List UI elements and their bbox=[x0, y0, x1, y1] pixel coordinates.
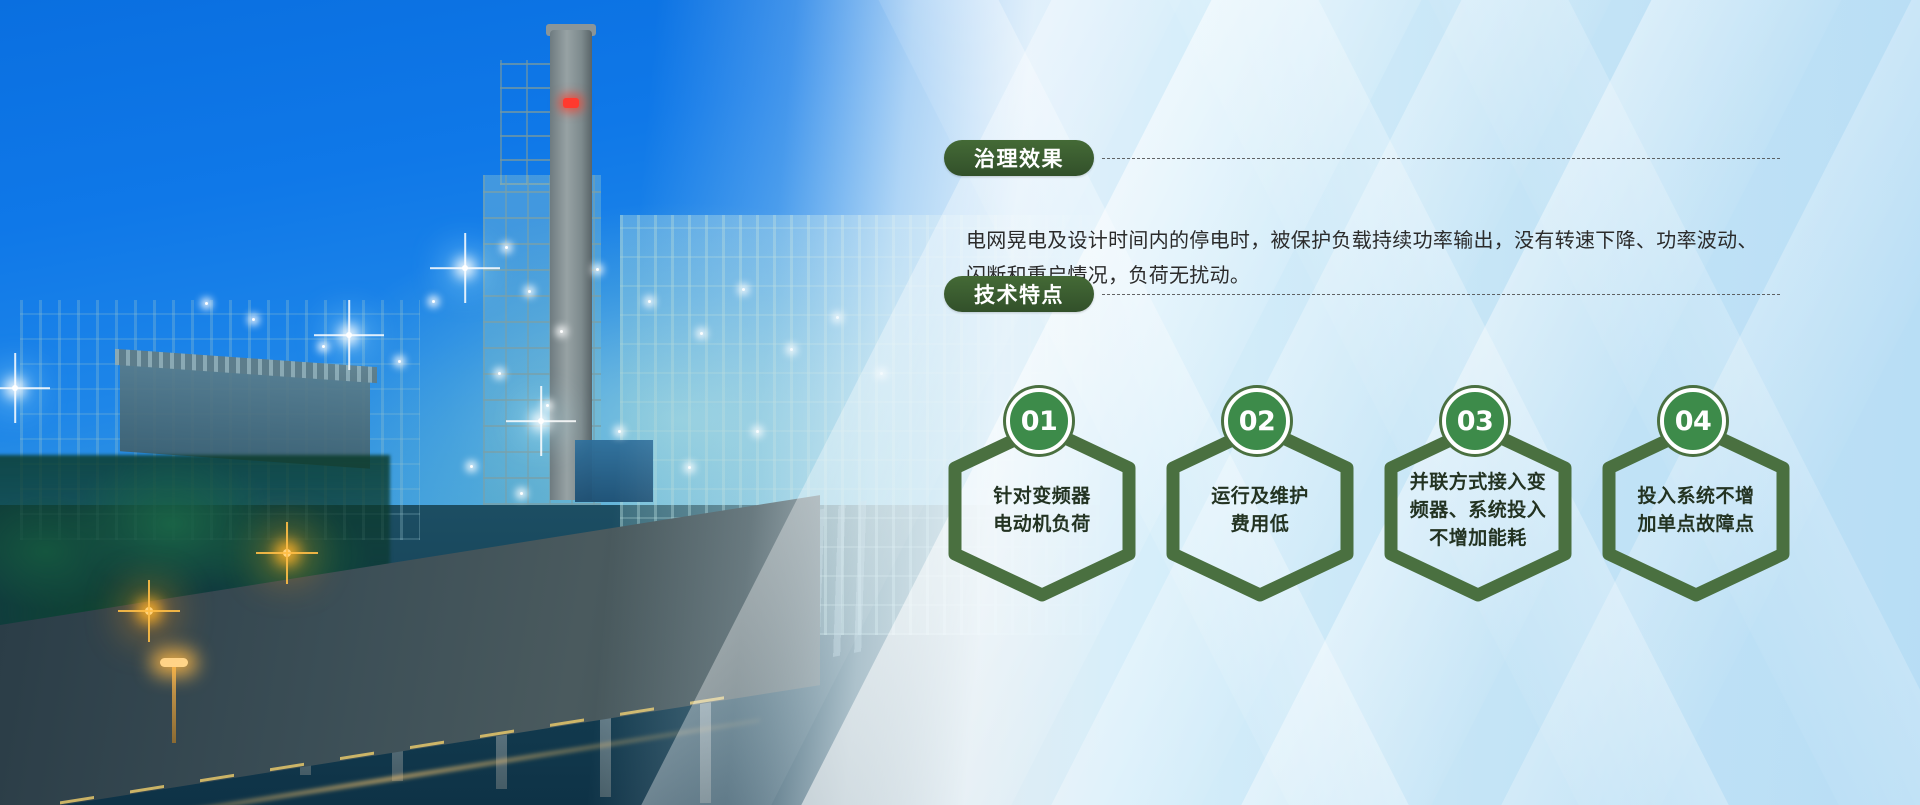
feature-hexagon-row: 01 针对变频器 电动机负荷 02 运行及维护 费用低 03 并联方式接入变 频… bbox=[944, 400, 1824, 620]
feature-hexagon-01[interactable]: 01 针对变频器 电动机负荷 bbox=[944, 400, 1144, 600]
feature-hexagon-02[interactable]: 02 运行及维护 费用低 bbox=[1162, 400, 1362, 600]
banner-stage: 治理效果 电网晃电及设计时间内的停电时，被保护负载持续功率输出，没有转速下降、功… bbox=[0, 0, 1920, 805]
dashed-rule bbox=[1102, 294, 1780, 295]
feature-number-04: 04 bbox=[1660, 388, 1726, 454]
content-layer: 治理效果 电网晃电及设计时间内的停电时，被保护负载持续功率输出，没有转速下降、功… bbox=[0, 0, 1920, 805]
feature-number-02: 02 bbox=[1224, 388, 1290, 454]
badge-governance-effect: 治理效果 bbox=[944, 140, 1094, 176]
feature-hexagon-03[interactable]: 03 并联方式接入变 频器、系统投入 不增加能耗 bbox=[1380, 400, 1580, 600]
section-governance-effect-header: 治理效果 bbox=[944, 140, 1780, 176]
feature-number-01: 01 bbox=[1006, 388, 1072, 454]
feature-number-03: 03 bbox=[1442, 388, 1508, 454]
feature-hexagon-04[interactable]: 04 投入系统不增 加单点故障点 bbox=[1598, 400, 1798, 600]
badge-technical-features: 技术特点 bbox=[944, 276, 1094, 312]
section-technical-features-header: 技术特点 bbox=[944, 276, 1780, 312]
dashed-rule bbox=[1102, 158, 1780, 159]
